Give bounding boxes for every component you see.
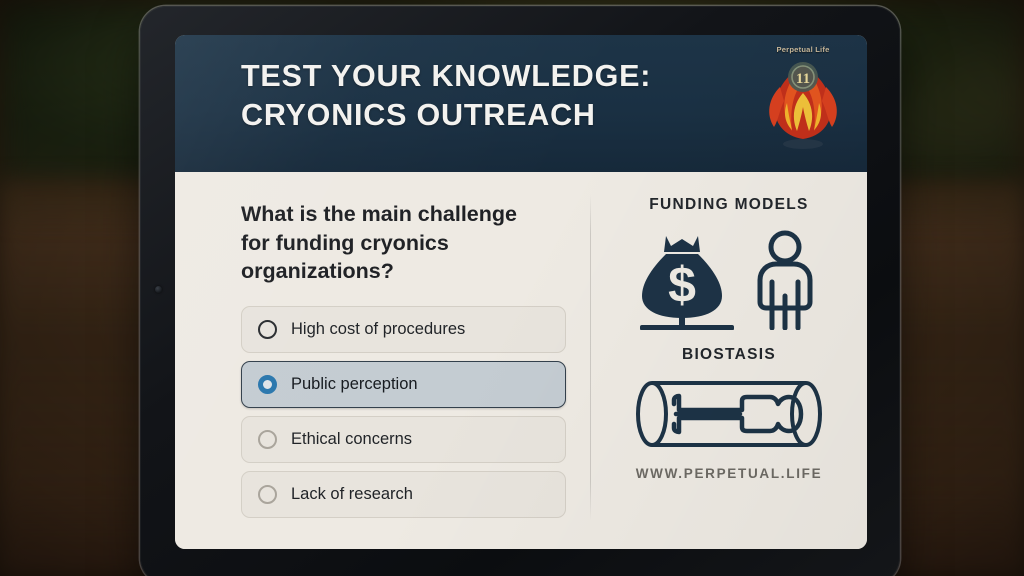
- tablet-screen: Test Your Knowledge: Cryonics Outreach P…: [175, 35, 867, 549]
- phoenix-flame-icon: 11: [754, 43, 852, 155]
- biostasis-title: Biostasis: [611, 346, 847, 364]
- cryo-pod-icon: [630, 374, 828, 454]
- slide-header: Test Your Knowledge: Cryonics Outreach P…: [175, 35, 867, 172]
- quiz-option-label: Ethical concerns: [291, 430, 412, 449]
- biostasis-icon-wrap: [611, 374, 847, 454]
- quiz-panel: What is the main challenge for funding c…: [175, 172, 590, 549]
- funding-icons: $: [611, 226, 847, 330]
- page-title: Test Your Knowledge: Cryonics Outreach: [241, 57, 841, 136]
- person-icon: [742, 226, 828, 330]
- money-bag-icon: $: [630, 226, 734, 330]
- quiz-option-2[interactable]: Public perception: [241, 361, 566, 408]
- radio-button-icon[interactable]: [258, 320, 277, 339]
- quiz-option-label: Lack of research: [291, 485, 413, 504]
- info-panel: Funding Models $: [591, 172, 867, 549]
- perpetual-life-logo: Perpetual Life 11: [754, 43, 852, 155]
- quiz-option-label: High cost of procedures: [291, 320, 465, 339]
- camera-dot-icon: [155, 286, 162, 293]
- photo-scene: Test Your Knowledge: Cryonics Outreach P…: [0, 0, 1024, 576]
- radio-button-icon[interactable]: [258, 430, 277, 449]
- svg-text:$: $: [668, 257, 696, 313]
- quiz-option-3[interactable]: Ethical concerns: [241, 416, 566, 463]
- slide-body: What is the main challenge for funding c…: [175, 172, 867, 549]
- logo-wordmark: Perpetual Life: [754, 45, 852, 54]
- funding-models-title: Funding Models: [611, 196, 847, 214]
- quiz-option-label: Public perception: [291, 375, 418, 394]
- quiz-option-4[interactable]: Lack of research: [241, 471, 566, 518]
- radio-button-icon[interactable]: [258, 485, 277, 504]
- tablet-device: Test Your Knowledge: Cryonics Outreach P…: [140, 6, 900, 576]
- quiz-option-1[interactable]: High cost of procedures: [241, 306, 566, 353]
- radio-button-selected-icon[interactable]: [258, 375, 277, 394]
- website-url: WWW.PERPETUAL.LIFE: [611, 466, 847, 481]
- quiz-question: What is the main challenge for funding c…: [241, 200, 566, 286]
- quiz-options: High cost of procedures Public perceptio…: [241, 306, 566, 518]
- svg-text:11: 11: [796, 71, 810, 87]
